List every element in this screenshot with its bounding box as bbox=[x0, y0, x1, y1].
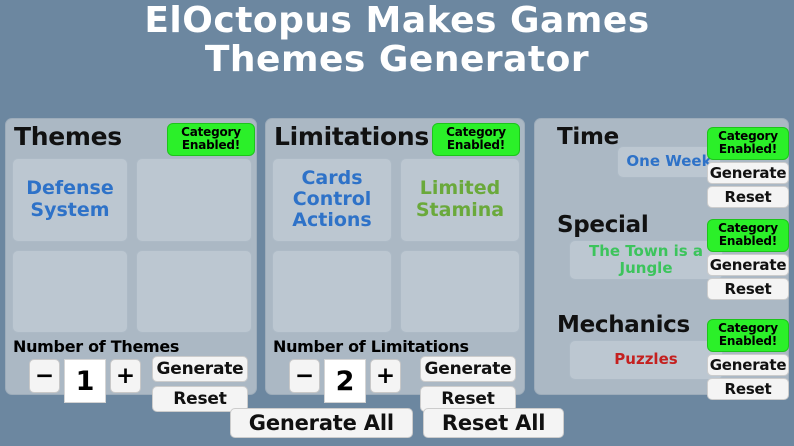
section-mechanics-value[interactable]: Puzzles bbox=[569, 340, 723, 380]
themes-slot-grid: Defense System bbox=[12, 158, 252, 333]
themes-count-label: Number of Themes bbox=[13, 337, 179, 356]
section-special-value[interactable]: The Town is a Jungle bbox=[569, 240, 723, 280]
themes-generate-button[interactable]: Generate bbox=[152, 356, 248, 382]
time-reset-button[interactable]: Reset bbox=[707, 186, 789, 208]
themes-actions: Generate Reset bbox=[152, 356, 248, 412]
special-generate-button[interactable]: Generate bbox=[707, 254, 789, 276]
themes-count-stepper: − 1 + bbox=[29, 359, 141, 403]
limitations-count-stepper: − 2 + bbox=[289, 359, 401, 403]
section-time-controls: Category Enabled! Generate Reset bbox=[707, 127, 789, 210]
special-reset-button[interactable]: Reset bbox=[707, 278, 789, 300]
limitations-increment-button[interactable]: + bbox=[370, 359, 401, 393]
app-root: ElOctopus Makes Games Themes Generator T… bbox=[0, 0, 794, 446]
page-title-line-2: Themes Generator bbox=[0, 41, 794, 80]
limitations-generate-button[interactable]: Generate bbox=[420, 356, 516, 382]
limitations-slot-2[interactable]: Limited Stamina bbox=[400, 158, 520, 242]
section-time-value[interactable]: One Week bbox=[617, 146, 721, 178]
section-special-controls: Category Enabled! Generate Reset bbox=[707, 219, 789, 302]
page-title: ElOctopus Makes Games Themes Generator bbox=[0, 2, 794, 80]
limitations-slot-3[interactable] bbox=[272, 250, 392, 334]
section-mechanics-title: Mechanics bbox=[557, 312, 690, 338]
panel-themes-header: Themes bbox=[14, 122, 122, 151]
section-mechanics-controls: Category Enabled! Generate Reset bbox=[707, 319, 789, 402]
limitations-slot-1[interactable]: Cards Control Actions bbox=[272, 158, 392, 242]
themes-decrement-button[interactable]: − bbox=[29, 359, 60, 393]
generate-all-button[interactable]: Generate All bbox=[230, 408, 413, 438]
time-generate-button[interactable]: Generate bbox=[707, 162, 789, 184]
panel-limitations: Limitations Category Enabled! Cards Cont… bbox=[265, 118, 525, 395]
limitations-slot-grid: Cards Control Actions Limited Stamina bbox=[272, 158, 520, 333]
limitations-decrement-button[interactable]: − bbox=[289, 359, 320, 393]
limitations-slot-4[interactable] bbox=[400, 250, 520, 334]
mechanics-generate-button[interactable]: Generate bbox=[707, 354, 789, 376]
limitations-actions: Generate Reset bbox=[420, 356, 516, 412]
page-title-line-1: ElOctopus Makes Games bbox=[0, 2, 794, 41]
themes-category-enabled-badge[interactable]: Category Enabled! bbox=[167, 123, 255, 156]
themes-slot-1[interactable]: Defense System bbox=[12, 158, 128, 242]
mechanics-reset-button[interactable]: Reset bbox=[707, 378, 789, 400]
special-category-enabled-badge[interactable]: Category Enabled! bbox=[707, 219, 789, 252]
time-category-enabled-badge[interactable]: Category Enabled! bbox=[707, 127, 789, 160]
themes-increment-button[interactable]: + bbox=[110, 359, 141, 393]
reset-all-button[interactable]: Reset All bbox=[423, 408, 564, 438]
panel-limitations-header: Limitations bbox=[274, 122, 429, 151]
section-time-title: Time bbox=[557, 124, 619, 150]
global-actions: Generate All Reset All bbox=[0, 408, 794, 438]
limitations-count-value[interactable]: 2 bbox=[324, 359, 366, 403]
panel-themes: Themes Category Enabled! Defense System … bbox=[5, 118, 257, 395]
mechanics-category-enabled-badge[interactable]: Category Enabled! bbox=[707, 319, 789, 352]
themes-slot-3[interactable] bbox=[12, 250, 128, 334]
section-special-title: Special bbox=[557, 212, 648, 238]
panel-right-categories: Time One Week Category Enabled! Generate… bbox=[534, 118, 789, 395]
themes-slot-4[interactable] bbox=[136, 250, 252, 334]
themes-slot-2[interactable] bbox=[136, 158, 252, 242]
limitations-count-label: Number of Limitations bbox=[273, 337, 469, 356]
themes-count-value[interactable]: 1 bbox=[64, 359, 106, 403]
limitations-category-enabled-badge[interactable]: Category Enabled! bbox=[432, 123, 520, 156]
